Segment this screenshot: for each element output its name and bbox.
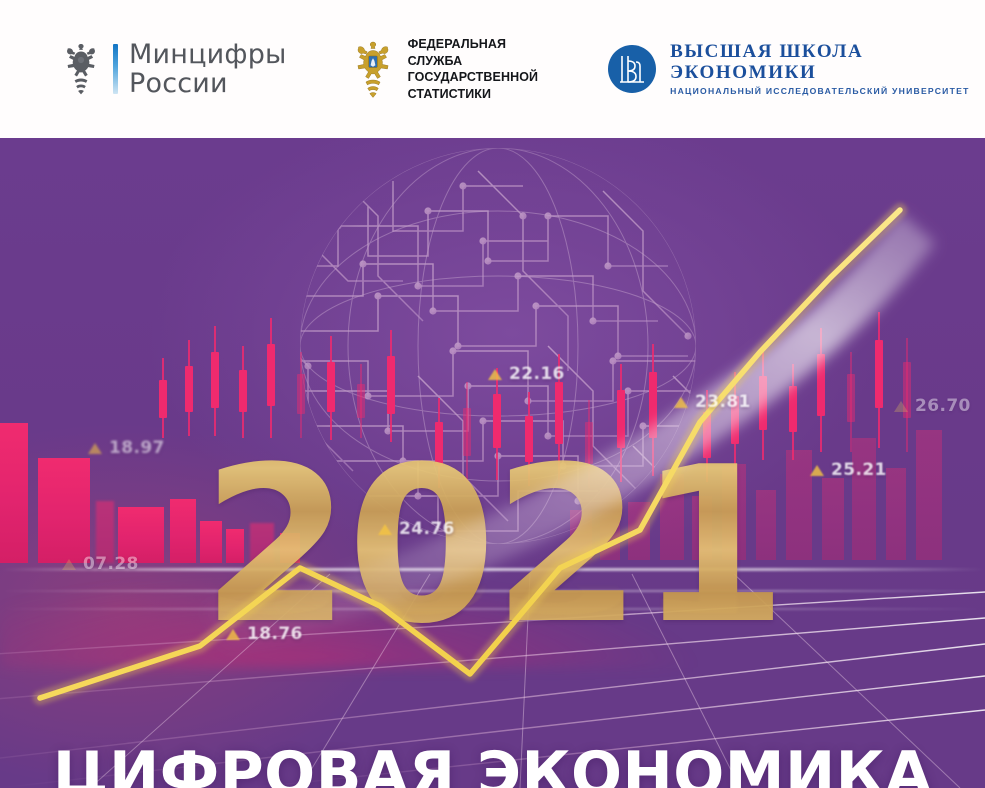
data-label-value: 07.28 bbox=[83, 554, 139, 574]
logo-hse-text: ВЫСШАЯ ШКОЛА ЭКОНОМИКИ НАЦИОНАЛЬНЫЙ ИССЛ… bbox=[670, 41, 985, 97]
cover-title-block: ЦИФРОВАЯ ЭКОНОМИКА Краткий статистически… bbox=[0, 744, 985, 788]
data-label-value: 22.16 bbox=[509, 364, 565, 384]
data-label-value: 24.76 bbox=[399, 519, 455, 539]
triangle-marker-icon bbox=[674, 397, 688, 408]
cover-page: Минцифры России bbox=[0, 0, 985, 788]
triangle-marker-icon bbox=[378, 524, 392, 535]
double-headed-eagle-icon bbox=[58, 38, 104, 100]
logo-hse: ВЫСШАЯ ШКОЛА ЭКОНОМИКИ НАЦИОНАЛЬНЫЙ ИССЛ… bbox=[608, 41, 985, 97]
logo-divider-bar bbox=[113, 44, 118, 94]
data-label-18-76: 18.76 bbox=[226, 624, 303, 644]
cover-artwork: 2021 2021 bbox=[0, 138, 985, 788]
logo-rosstat-line2: ГОСУДАРСТВЕННОЙ bbox=[408, 70, 539, 84]
logo-mincifry-text: Минцифры России bbox=[129, 40, 287, 98]
triangle-marker-icon bbox=[810, 465, 824, 476]
data-label-value: 23.81 bbox=[695, 392, 751, 412]
data-label-23-81: 23.81 bbox=[674, 392, 751, 412]
data-label-24-76: 24.76 bbox=[378, 519, 455, 539]
data-label-26-70: 26.70 bbox=[894, 396, 971, 416]
logo-mincifry: Минцифры России bbox=[58, 38, 287, 100]
data-label-25-21: 25.21 bbox=[810, 460, 887, 480]
hse-monogram-icon bbox=[608, 45, 656, 93]
data-label-07-28: 07.28 bbox=[62, 554, 139, 574]
triangle-marker-icon bbox=[226, 629, 240, 640]
data-label-value: 25.21 bbox=[831, 460, 887, 480]
logo-mincifry-line2: России bbox=[129, 68, 228, 99]
logo-hse-line1: ВЫСШАЯ ШКОЛА ЭКОНОМИКИ bbox=[670, 41, 985, 83]
triangle-marker-icon bbox=[894, 401, 908, 412]
triangle-marker-icon bbox=[488, 369, 502, 380]
golden-double-headed-eagle-icon bbox=[350, 38, 396, 100]
logo-mincifry-line1: Минцифры bbox=[129, 39, 287, 70]
logo-rosstat-line3: СТАТИСТИКИ bbox=[408, 87, 492, 101]
logo-hse-line2: НАЦИОНАЛЬНЫЙ ИССЛЕДОВАТЕЛЬСКИЙ УНИВЕРСИТ… bbox=[670, 85, 985, 97]
data-label-value: 26.70 bbox=[915, 396, 971, 416]
logo-header-band: Минцифры России bbox=[0, 0, 985, 138]
data-label-18-97: 18.97 bbox=[88, 438, 165, 458]
triangle-marker-icon bbox=[62, 559, 76, 570]
page-title: ЦИФРОВАЯ ЭКОНОМИКА bbox=[0, 744, 985, 788]
data-label-value: 18.76 bbox=[247, 624, 303, 644]
triangle-marker-icon bbox=[88, 443, 102, 454]
logo-rosstat-text: ФЕДЕРАЛЬНАЯ СЛУЖБА ГОСУДАРСТВЕННОЙ СТАТИ… bbox=[408, 36, 549, 102]
logo-rosstat-line1: ФЕДЕРАЛЬНАЯ СЛУЖБА bbox=[408, 37, 507, 68]
logo-rosstat: ФЕДЕРАЛЬНАЯ СЛУЖБА ГОСУДАРСТВЕННОЙ СТАТИ… bbox=[350, 36, 549, 102]
data-label-22-16: 22.16 bbox=[488, 364, 565, 384]
data-label-value: 18.97 bbox=[109, 438, 165, 458]
